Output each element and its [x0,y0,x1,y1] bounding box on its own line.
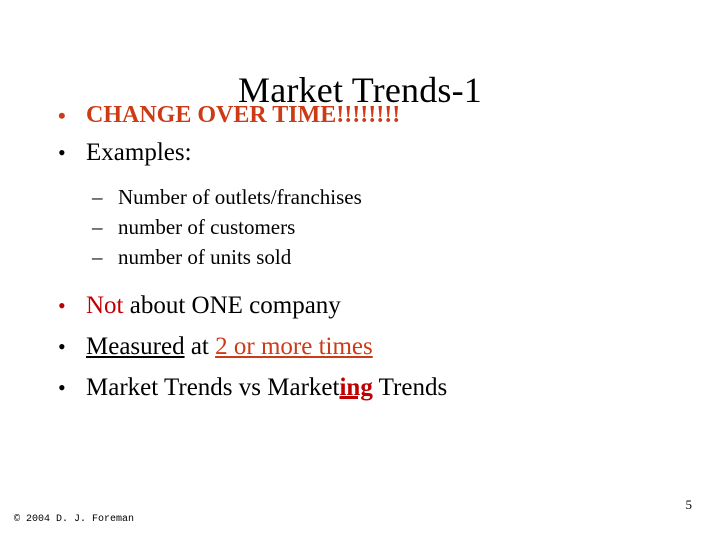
bullet-marker-icon: • [58,372,66,403]
slide-number: 5 [686,497,693,512]
bullet-marker-icon: • [58,331,66,362]
bullet-text-at: at [185,333,216,360]
slide-body: • CHANGE OVER TIME!!!!!!!! • Examples: –… [44,100,684,413]
presentation-slide: Market Trends-1 • CHANGE OVER TIME!!!!!!… [0,0,720,540]
bullet-text-change-over-time: CHANGE OVER TIME!!!!!!!! [86,102,400,128]
bullet-text-about-one-company: about ONE company [124,292,341,319]
bullet-text-examples: Examples: [86,139,192,166]
bullet-measured-at-two-or-more-times: • Measured at 2 or more times [44,331,684,362]
bullet-marker-icon: • [58,290,66,321]
bullet-text-measured: Measured [86,333,185,360]
bullet-marker-icon: • [58,100,66,131]
bullet-market-trends-vs-marketing-trends: • Market Trends vs Marketing Trends [44,372,684,403]
sub-bullet-units-sold: – number of units sold [44,242,684,272]
lower-bullet-list: • Not about ONE company • Measured at 2 … [44,290,684,403]
bullet-text-not: Not [86,292,124,319]
sub-bullet-label: number of units sold [118,245,291,269]
sub-bullet-label: number of customers [118,215,295,239]
sub-bullet-list: – Number of outlets/franchises – number … [44,182,684,272]
bullet-text-two-or-more-times: 2 or more times [215,333,373,360]
sub-bullet-outlets-franchises: – Number of outlets/franchises [44,182,684,212]
bullet-marker-icon: • [58,137,66,168]
sub-bullet-label: Number of outlets/franchises [118,185,362,209]
sub-bullet-marker-icon: – [92,242,103,272]
sub-bullet-customers: – number of customers [44,212,684,242]
sub-bullet-marker-icon: – [92,212,103,242]
bullet-text-market-trends-vs-market: Market Trends vs Market [86,374,339,401]
bullet-not-about-one-company: • Not about ONE company [44,290,684,321]
sub-bullet-marker-icon: – [92,182,103,212]
bullet-text-trends: Trends [373,374,447,401]
bullet-text-ing-suffix: ing [339,374,372,401]
bullet-examples: • Examples: [44,137,684,168]
bullet-change-over-time: • CHANGE OVER TIME!!!!!!!! [44,100,684,131]
footer-copyright: © 2004 D. J. Foreman [14,514,134,526]
